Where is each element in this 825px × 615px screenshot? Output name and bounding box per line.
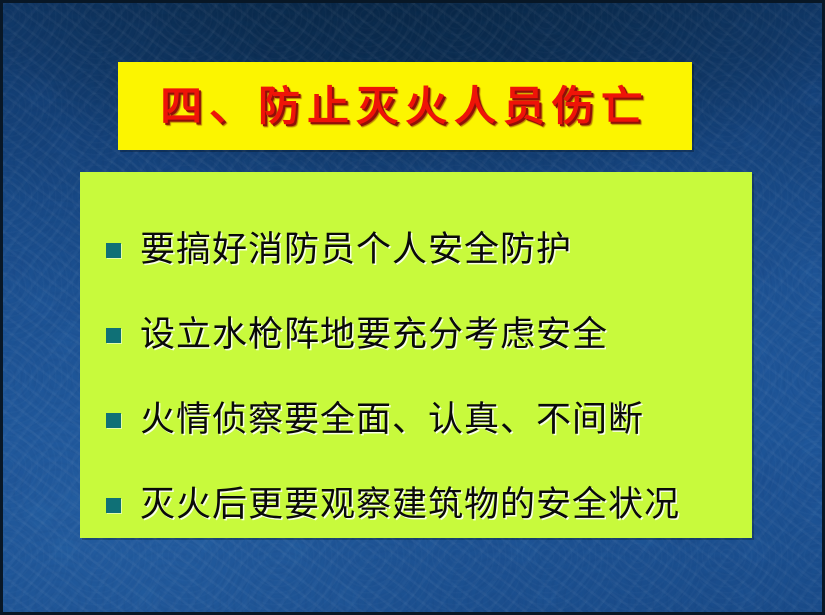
list-item: 火情侦察要全面、认真、不间断: [106, 378, 726, 463]
list-item: 设立水枪阵地要充分考虑安全: [106, 293, 726, 378]
list-item: 灭火后更要观察建筑物的安全状况: [106, 463, 726, 548]
slide-title: 四、防止灭火人员伤亡: [160, 86, 650, 127]
presentation-slide: 四、防止灭火人员伤亡 要搞好消防员个人安全防护 设立水枪阵地要充分考虑安全 火情…: [0, 0, 825, 615]
bullet-list: 要搞好消防员个人安全防护 设立水枪阵地要充分考虑安全 火情侦察要全面、认真、不间…: [106, 208, 726, 548]
content-panel: 要搞好消防员个人安全防护 设立水枪阵地要充分考虑安全 火情侦察要全面、认真、不间…: [80, 172, 752, 538]
square-bullet-icon: [106, 243, 121, 258]
bullet-text: 灭火后更要观察建筑物的安全状况: [140, 486, 680, 525]
square-bullet-icon: [106, 413, 121, 428]
bullet-text: 火情侦察要全面、认真、不间断: [140, 401, 644, 440]
list-item: 要搞好消防员个人安全防护: [106, 208, 726, 293]
bullet-text: 要搞好消防员个人安全防护: [140, 231, 572, 270]
square-bullet-icon: [106, 328, 121, 343]
square-bullet-icon: [106, 498, 121, 513]
title-banner: 四、防止灭火人员伤亡: [118, 62, 692, 150]
bullet-text: 设立水枪阵地要充分考虑安全: [140, 316, 608, 355]
